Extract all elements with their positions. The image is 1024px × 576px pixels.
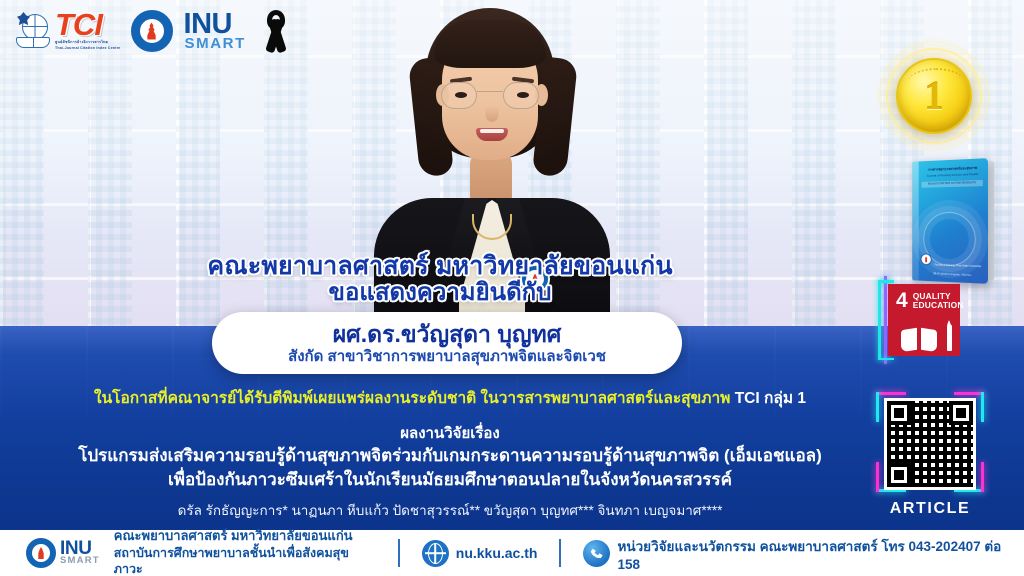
journal-issuer: Faculty of Nursing, Khon Kaen University bbox=[935, 264, 983, 270]
article-qr-block[interactable]: ARTICLE bbox=[876, 392, 984, 520]
medal-arc-text bbox=[908, 68, 964, 96]
qr-finder-bottom-left bbox=[887, 463, 911, 487]
sdg-number: 4 bbox=[896, 291, 908, 310]
tci-wordmark-group: TCI ศูนย์ดัชนีการอ้างอิงวารสารไทย Thai-J… bbox=[55, 11, 121, 51]
headline-line-1: คณะพยาบาลศาสตร์ มหาวิทยาลัยขอนแก่น bbox=[0, 252, 880, 280]
kku-pagoda-icon bbox=[145, 23, 158, 40]
journal-issue-info: ปีที่ 47 ฉบับที่ 3 กรกฎาคม - กันยายน bbox=[922, 272, 982, 279]
tci-logo: TCI ศูนย์ดัชนีการอ้างอิงวารสารไทย Thai-J… bbox=[14, 11, 121, 51]
headline: คณะพยาบาลศาสตร์ มหาวิทยาลัยขอนแก่น ขอแสด… bbox=[0, 252, 880, 307]
occasion-text: ในโอกาสที่คณาจารย์ได้รับตีพิมพ์เผยแพร่ผล… bbox=[0, 390, 900, 409]
journal-seal-icon bbox=[921, 253, 932, 265]
journal-front-cover: วารสารพยาบาลศาสตร์และสุขภาพ Journal of N… bbox=[912, 158, 988, 284]
sdg-title-line-2: EDUCATION bbox=[913, 300, 964, 310]
top-logo-bar: TCI ศูนย์ดัชนีการอ้างอิงวารสารไทย Thai-J… bbox=[0, 0, 1024, 62]
phone-icon bbox=[583, 540, 610, 567]
honoree-department: สังกัด สาขาวิชาการพยาบาลสุขภาพจิตและจิตเ… bbox=[288, 348, 606, 366]
portrait-eye-right bbox=[517, 92, 529, 98]
sdg-open-book-icon bbox=[901, 327, 937, 351]
ribbon-loop bbox=[267, 10, 285, 30]
eyeglass-bridge bbox=[477, 91, 503, 92]
sdg-badge-header: 4 QUALITY EDUCATION bbox=[896, 291, 953, 311]
book-page-right bbox=[921, 328, 937, 353]
footer-faculty-line-1: คณะพยาบาลศาสตร์ มหาวิทยาลัยขอนแก่น bbox=[114, 528, 376, 545]
globe-icon bbox=[422, 540, 449, 567]
journal-cover-image: วารสารพยาบาลศาสตร์และสุขภาพ Journal of N… bbox=[912, 158, 988, 284]
footer-website-url[interactable]: nu.kku.ac.th bbox=[456, 545, 538, 561]
honoree-name: ผศ.ดร.ขวัญสุดา บุญทศ bbox=[333, 322, 562, 348]
tci-subtitle-th: ศูนย์ดัชนีการอ้างอิงวารสารไทย bbox=[55, 40, 121, 45]
qr-modules bbox=[887, 401, 973, 487]
sdg-neon-vertical-purple bbox=[884, 276, 887, 364]
kku-university-seal-icon bbox=[131, 10, 173, 52]
medal-coin: 1 bbox=[896, 58, 972, 134]
footer-inu-subtitle: SMART bbox=[60, 557, 100, 566]
journal-spine bbox=[912, 161, 918, 280]
research-title-line-2: เพื่อป้องกันภาวะซึมเศร้าในนักเรียนมัธยมศ… bbox=[0, 468, 900, 492]
tci-wordmark: TCI bbox=[55, 11, 121, 39]
inu-smart-subtitle: SMART bbox=[185, 37, 246, 51]
footer-bar: INU SMART คณะพยาบาลศาสตร์ มหาวิทยาลัยขอน… bbox=[0, 530, 1024, 576]
gold-medal-icon: 1 bbox=[896, 58, 972, 134]
qr-label: ARTICLE bbox=[876, 500, 984, 518]
occasion-main: ในโอกาสที่คณาจารย์ได้รับตีพิมพ์เผยแพร่ผล… bbox=[94, 390, 735, 407]
mourning-ribbon-icon bbox=[263, 10, 289, 52]
footer-faculty-text: คณะพยาบาลศาสตร์ มหาวิทยาลัยขอนแก่น สถาบั… bbox=[114, 528, 376, 576]
sdg-neon-top bbox=[878, 280, 894, 283]
research-title-line-1: โปรแกรมส่งเสริมความรอบรู้ด้านสุขภาพจิตร่… bbox=[0, 444, 900, 468]
research-label: ผลงานวิจัยเรื่อง bbox=[0, 424, 900, 444]
research-authors: ดรัล รักธัญญะการ* นาฏนภา หีบแก้ว ปัดชาสุ… bbox=[0, 502, 900, 520]
congratulation-poster: TCI ศูนย์ดัชนีการอ้างอิงวารสารไทย Thai-J… bbox=[0, 0, 1024, 576]
footer-pagoda-icon bbox=[37, 547, 46, 559]
qr-finder-top-right bbox=[949, 401, 973, 425]
footer-inu-logo: INU SMART bbox=[26, 538, 100, 568]
honoree-name-card: ผศ.ดร.ขวัญสุดา บุญทศ สังกัด สาขาวิชาการพ… bbox=[212, 312, 682, 374]
sdg-neon-bottom bbox=[878, 358, 894, 361]
inu-smart-logo: INU SMART bbox=[184, 11, 246, 51]
headline-line-2: ขอแสดงความยินดีกับ bbox=[0, 280, 880, 307]
footer-website[interactable]: nu.kku.ac.th bbox=[422, 540, 538, 567]
tci-book-icon bbox=[16, 37, 50, 48]
sdg-goal-badge: 4 QUALITY EDUCATION bbox=[888, 284, 960, 356]
footer-divider-1 bbox=[398, 539, 400, 567]
footer-kku-seal-icon bbox=[26, 538, 56, 568]
tci-subtitle-en: Thai-Journal Citation Index Centre bbox=[55, 46, 121, 51]
sdg-title: QUALITY EDUCATION bbox=[913, 291, 964, 311]
qr-finder-top-left bbox=[887, 401, 911, 425]
portrait-smile bbox=[476, 128, 508, 141]
sdg-pencil-icon bbox=[947, 325, 952, 351]
journal-title-en: Journal of Nursing Science and Health bbox=[922, 172, 982, 179]
portrait-eye-left bbox=[455, 92, 467, 98]
footer-faculty-line-2: สถาบันการศึกษาพยาบาลชั้นนำเพื่อสังคมสุขภ… bbox=[114, 545, 376, 576]
tci-emblem-icon bbox=[14, 11, 52, 51]
footer-contact: หน่วยวิจัยและนวัตกรรม คณะพยาบาลศาสตร์ โท… bbox=[583, 535, 1024, 572]
research-block: ผลงานวิจัยเรื่อง โปรแกรมส่งเสริมความรอบร… bbox=[0, 424, 900, 493]
footer-inu-wordmark-group: INU SMART bbox=[60, 540, 100, 566]
footer-contact-text: หน่วยวิจัยและนวัตกรรม คณะพยาบาลศาสตร์ โท… bbox=[617, 535, 1024, 572]
book-page-left bbox=[901, 328, 917, 353]
occasion-tci-tier: TCI กลุ่ม 1 bbox=[735, 390, 806, 407]
qr-code-icon[interactable] bbox=[884, 398, 976, 490]
footer-divider-2 bbox=[559, 539, 561, 567]
journal-band-text: คณะพยาบาลศาสตร์ มหาวิทยาลัยขอนแก่น bbox=[921, 180, 982, 188]
